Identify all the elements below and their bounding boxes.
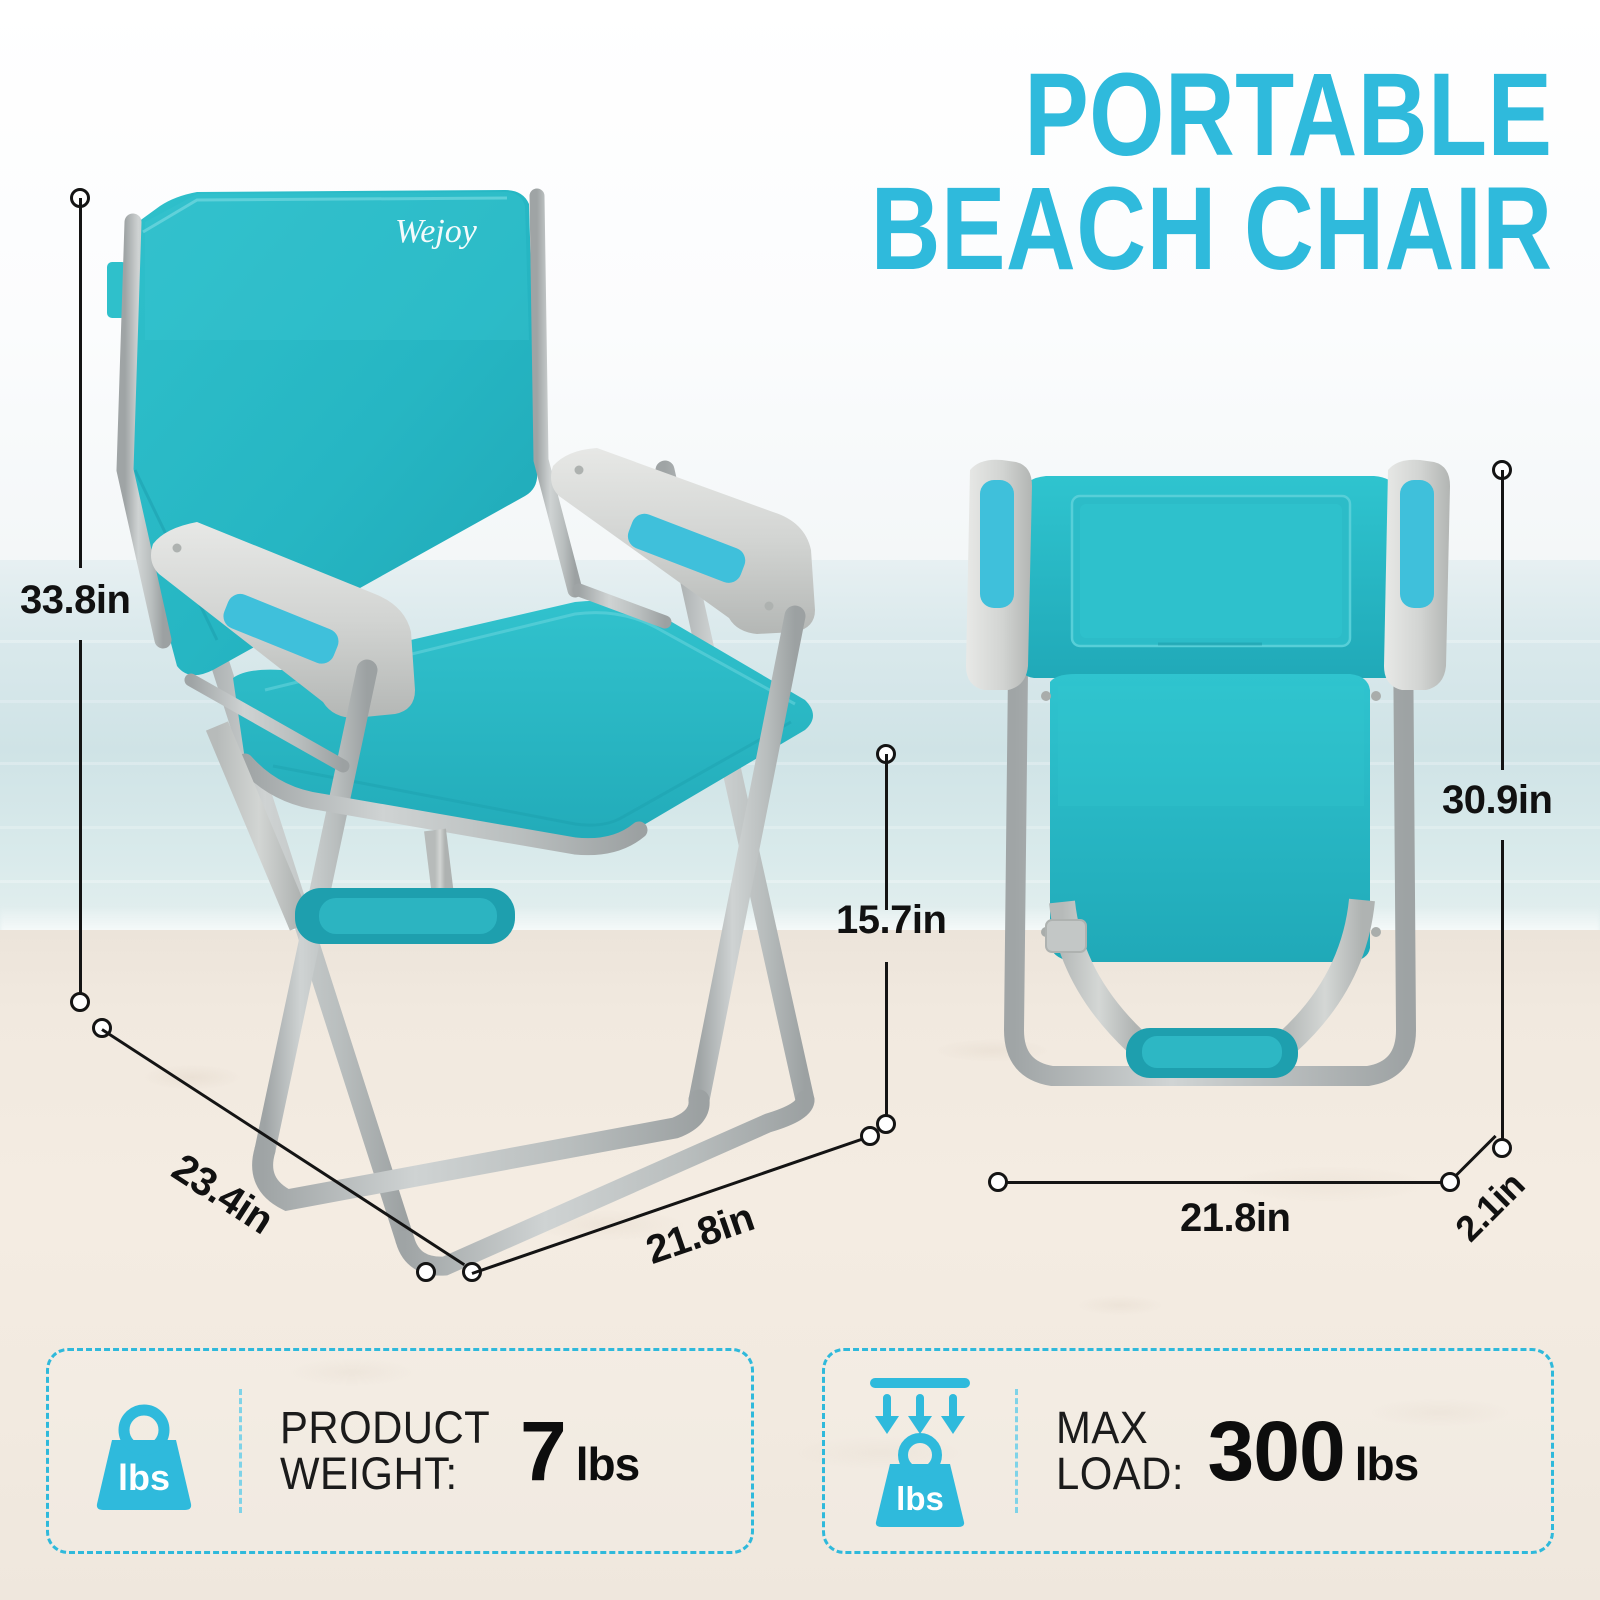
product-weight-card: lbs PRODUCT WEIGHT: 7 lbs (46, 1348, 754, 1554)
card-divider (1015, 1389, 1018, 1513)
load-unit: lbs (1355, 1441, 1418, 1487)
dim-label-folded-height: 30.9in (1442, 778, 1552, 823)
max-load-card: lbs MAX LOAD: 300 lbs (822, 1348, 1554, 1554)
title-line-2: BEACH CHAIR (870, 172, 1552, 286)
folded-left-armrest (966, 460, 1032, 690)
load-icon-label: lbs (896, 1480, 944, 1517)
down-arrows-icon (875, 1394, 965, 1434)
card-divider (239, 1389, 242, 1513)
dim-line-folded-height (1501, 840, 1504, 1146)
weight-value: 7 (520, 1409, 566, 1493)
weight-value-group: 7 lbs (520, 1409, 639, 1493)
dim-endpoint-dot (988, 1172, 1008, 1192)
folded-right-armrest (1384, 460, 1450, 690)
armrest-accent (1400, 480, 1434, 608)
open-beach-chair-illustration: Wejoy (105, 170, 895, 1310)
dim-line-height (79, 640, 82, 1000)
load-label-line-2: LOAD: (1056, 1451, 1184, 1497)
dim-label-folded-width: 21.8in (1180, 1196, 1290, 1241)
load-value-group: 300 lbs (1208, 1409, 1419, 1493)
dim-line-seat-height (885, 754, 888, 910)
max-load-icon: lbs (825, 1372, 1015, 1530)
load-value: 300 (1208, 1409, 1345, 1493)
dim-label-height: 33.8in (20, 578, 130, 623)
dim-endpoint-dot (876, 1114, 896, 1134)
weight-label-line-1: PRODUCT (280, 1405, 490, 1451)
dim-label-seat-height: 15.7in (836, 898, 946, 943)
carry-handle (295, 888, 515, 944)
strap-buckle (1046, 920, 1086, 952)
folded-carry-handle (1126, 1028, 1298, 1078)
armrest-accent (980, 480, 1014, 608)
load-label-line-1: MAX (1056, 1405, 1184, 1451)
weight-label-line-2: WEIGHT: (280, 1451, 490, 1497)
dim-endpoint-dot (416, 1262, 436, 1282)
infographic-canvas: PORTABLE BEACH CHAIR (0, 0, 1600, 1600)
weight-lbs-icon: lbs (49, 1386, 239, 1516)
title-line-1: PORTABLE (870, 58, 1552, 172)
weight-icon-label: lbs (118, 1457, 170, 1498)
load-bar-icon (870, 1378, 970, 1388)
dim-line-seat-height (885, 962, 888, 1122)
dim-line-folded-height (1501, 470, 1504, 770)
dim-line-folded-width (1006, 1181, 1446, 1184)
weight-unit: lbs (576, 1441, 639, 1487)
dim-endpoint-dot (1492, 1138, 1512, 1158)
dim-line-height (79, 198, 82, 568)
folded-beach-chair-illustration (950, 450, 1470, 1150)
brand-logo: Wejoy (395, 213, 478, 250)
dim-endpoint-dot (70, 992, 90, 1012)
